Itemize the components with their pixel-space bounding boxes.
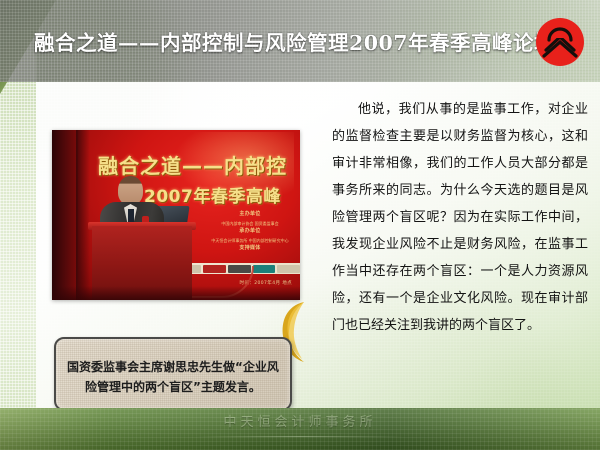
photo-caption-box: 国资委监事会主席谢思忠先生做“企业风险管理中的两个盲区”主题发言。 [54,337,292,411]
speaker-photo: 融合之道——内部控 2007年春季高峰 主办单位 中国内部审计协会 国资委监事会… [52,130,300,300]
photo-caption-text: 国资委监事会主席谢思忠先生做“企业风险管理中的两个盲区”主题发言。 [65,358,281,397]
zhongtianheng-logo-icon [534,16,586,68]
credits-host-label: 主办单位 [239,211,260,217]
credits-host-value: 中国内部审计协会 国资委监事会 [208,220,292,228]
footer-watermark: 中天恒会计师事务所 [0,411,600,430]
page-title: 融合之道——内部控制与风险管理2007年春季高峰论坛 [34,26,524,56]
photo-banner-line-1: 融合之道——内部控 [98,150,287,179]
credits-organizer-label: 承办单位 [239,228,260,234]
presentation-slide: 融合之道——内部控制与风险管理2007年春季高峰论坛 融合之道——内部控 200… [0,0,600,450]
credits-media-label: 支持媒体 [239,245,260,251]
title-bar: 融合之道——内部控制与风险管理2007年春季高峰论坛 [0,0,600,82]
credits-organizer-value: 中天恒会计师事务所 中国内部控制研究中心 [208,237,292,245]
photo-banner-credits: 主办单位 中国内部审计协会 国资委监事会 承办单位 中天恒会计师事务所 中国内部… [208,210,292,254]
body-paragraph: 他说，我们从事的是监事工作，对企业的监督检查主要是以财务监督为核心，这和审计非常… [332,96,588,339]
footer-rule [196,436,404,437]
